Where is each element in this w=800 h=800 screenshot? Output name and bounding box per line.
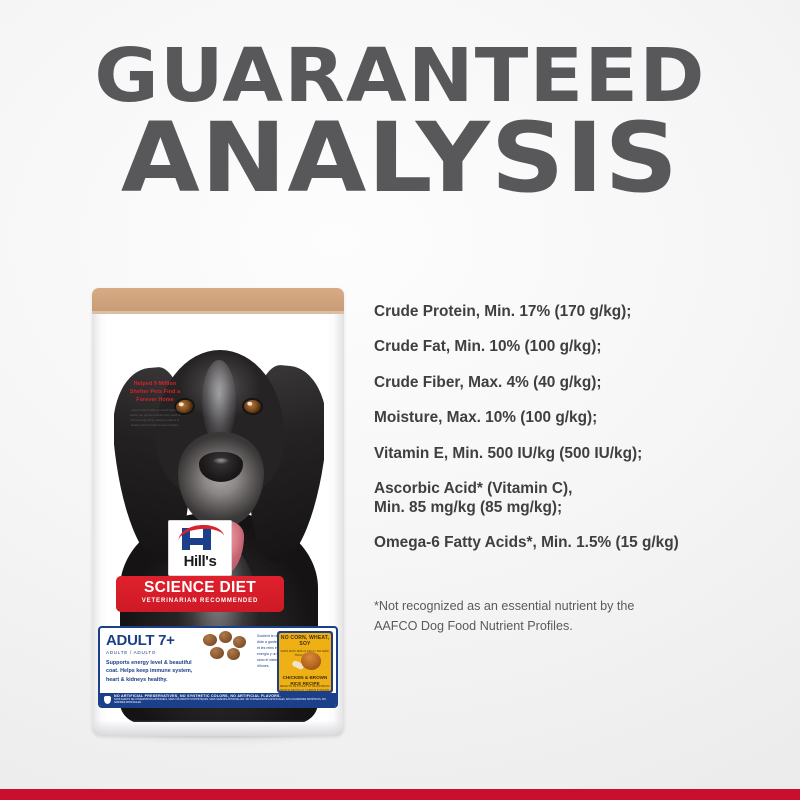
kibble-piece: [219, 631, 232, 643]
shelter-pets-callout: Helped 9 Million Shelter Pets Find a For…: [128, 380, 182, 428]
product-benefits-text: Supports energy level & beautiful coat. …: [106, 659, 194, 684]
bottom-accent-bar: [0, 789, 800, 800]
shelter-callout-body: Every bowl of Hill's you feed helps a sh…: [128, 408, 182, 428]
kibble-piece: [227, 648, 240, 660]
product-bag-image: Helped 9 Million Shelter Pets Find a For…: [92, 288, 344, 736]
analysis-item: Moisture, Max. 10% (100 g/kg);: [374, 409, 764, 427]
page-title-line-guaranteed: GUARANTEED: [0, 46, 800, 107]
no-artificial-footer-sub: SANS AGENTS DE CONSERVATION ARTIFICIELS,…: [114, 699, 332, 705]
guaranteed-analysis-list: Crude Protein, Min. 17% (170 g/kg); Crud…: [374, 303, 764, 570]
science-diet-title: SCIENCE DIET: [116, 580, 284, 596]
hills-wordmark: Hill's: [169, 553, 231, 570]
analysis-footnote: *Not recognized as an essential nutrient…: [374, 597, 774, 636]
kibble-piece: [210, 647, 224, 659]
kibble-piece: [233, 636, 246, 648]
bag-kraft-top-strip: [92, 288, 344, 314]
analysis-item-text: Moisture, Max. 10% (100 g/kg);: [374, 409, 597, 426]
analysis-item: Omega-6 Fatty Acids*, Min. 1.5% (15 g/kg…: [374, 534, 764, 552]
veterinarian-recommended-label: VETERINARIAN RECOMMENDED: [116, 598, 284, 604]
no-artificial-footer: NO ARTIFICIAL PRESERVATIVES, NO SYNTHETI…: [100, 693, 336, 706]
chicken-meat-shape: [299, 649, 324, 672]
hills-logo: Hill's: [168, 520, 232, 576]
analysis-item: Crude Protein, Min. 17% (170 g/kg);: [374, 303, 764, 321]
analysis-item: Vitamin E, Min. 500 IU/kg (500 IU/kg);: [374, 445, 764, 463]
life-stage-subtitle: ADULTE / ADULTO: [106, 650, 194, 655]
guaranteed-analysis-page: GUARANTEED ANALYSIS: [0, 0, 800, 800]
recipe-badge-inner: NO CORN, WHEAT, SOY SANS MAÏS, BLÉ NI SO…: [279, 633, 331, 691]
bag-bottom-fold: [92, 720, 344, 736]
no-corn-wheat-soy-label: NO CORN, WHEAT, SOY: [279, 635, 331, 648]
analysis-footnote-line-2: AAFCO Dog Food Nutrient Profiles.: [374, 617, 774, 637]
life-stage-title: ADULT 7+: [106, 633, 194, 648]
analysis-item: Ascorbic Acid* (Vitamin C), Min. 85 mg/k…: [374, 480, 764, 517]
analysis-item: Crude Fat, Min. 10% (100 g/kg);: [374, 338, 764, 356]
analysis-item-text-continued: Min. 85 mg/kg (85 mg/kg);: [374, 499, 764, 517]
recipe-badge: NO CORN, WHEAT, SOY SANS MAÏS, BLÉ NI SO…: [277, 631, 333, 693]
science-diet-banner: SCIENCE DIET VETERINARIAN RECOMMENDED: [116, 576, 284, 612]
product-info-main: ADULT 7+ ADULTE / ADULTO Supports energy…: [100, 628, 336, 693]
analysis-item-text: Crude Fat, Min. 10% (100 g/kg);: [374, 338, 601, 355]
life-stage-block: ADULT 7+ ADULTE / ADULTO Supports energy…: [100, 628, 198, 693]
chicken-drumstick-icon: [291, 650, 323, 674]
page-title: GUARANTEED ANALYSIS: [0, 46, 800, 197]
product-info-panel: ADULT 7+ ADULTE / ADULTO Supports energy…: [98, 626, 338, 708]
kibble-piece: [203, 634, 217, 646]
kibble-illustration: [198, 628, 254, 693]
analysis-footnote-line-1: *Not recognized as an essential nutrient…: [374, 597, 774, 617]
recipe-name-label-multilingual: RECETTE DE POULET ET DE RIZ BRUN / RECET…: [279, 685, 331, 691]
analysis-item-text: Crude Protein, Min. 17% (170 g/kg);: [374, 303, 631, 320]
page-title-line-analysis: ANALYSIS: [0, 119, 800, 198]
hills-h-mark-icon: [176, 526, 226, 552]
shield-icon: [104, 696, 111, 704]
analysis-item-text: Vitamin E, Min. 500 IU/kg (500 IU/kg);: [374, 445, 642, 462]
analysis-item-text: Ascorbic Acid* (Vitamin C),: [374, 480, 572, 497]
analysis-item-text: Omega-6 Fatty Acids*, Min. 1.5% (15 g/kg…: [374, 534, 679, 551]
no-artificial-footer-main: NO ARTIFICIAL PRESERVATIVES, NO SYNTHETI…: [114, 694, 281, 698]
analysis-item-text: Crude Fiber, Max. 4% (40 g/kg);: [374, 374, 602, 391]
no-artificial-footer-text: NO ARTIFICIAL PRESERVATIVES, NO SYNTHETI…: [114, 694, 332, 704]
dog-food-bag: Helped 9 Million Shelter Pets Find a For…: [92, 288, 344, 736]
shelter-callout-headline: Helped 9 Million Shelter Pets Find a For…: [128, 380, 182, 404]
analysis-item: Crude Fiber, Max. 4% (40 g/kg);: [374, 374, 764, 392]
hills-red-swoosh-icon: [177, 523, 224, 544]
